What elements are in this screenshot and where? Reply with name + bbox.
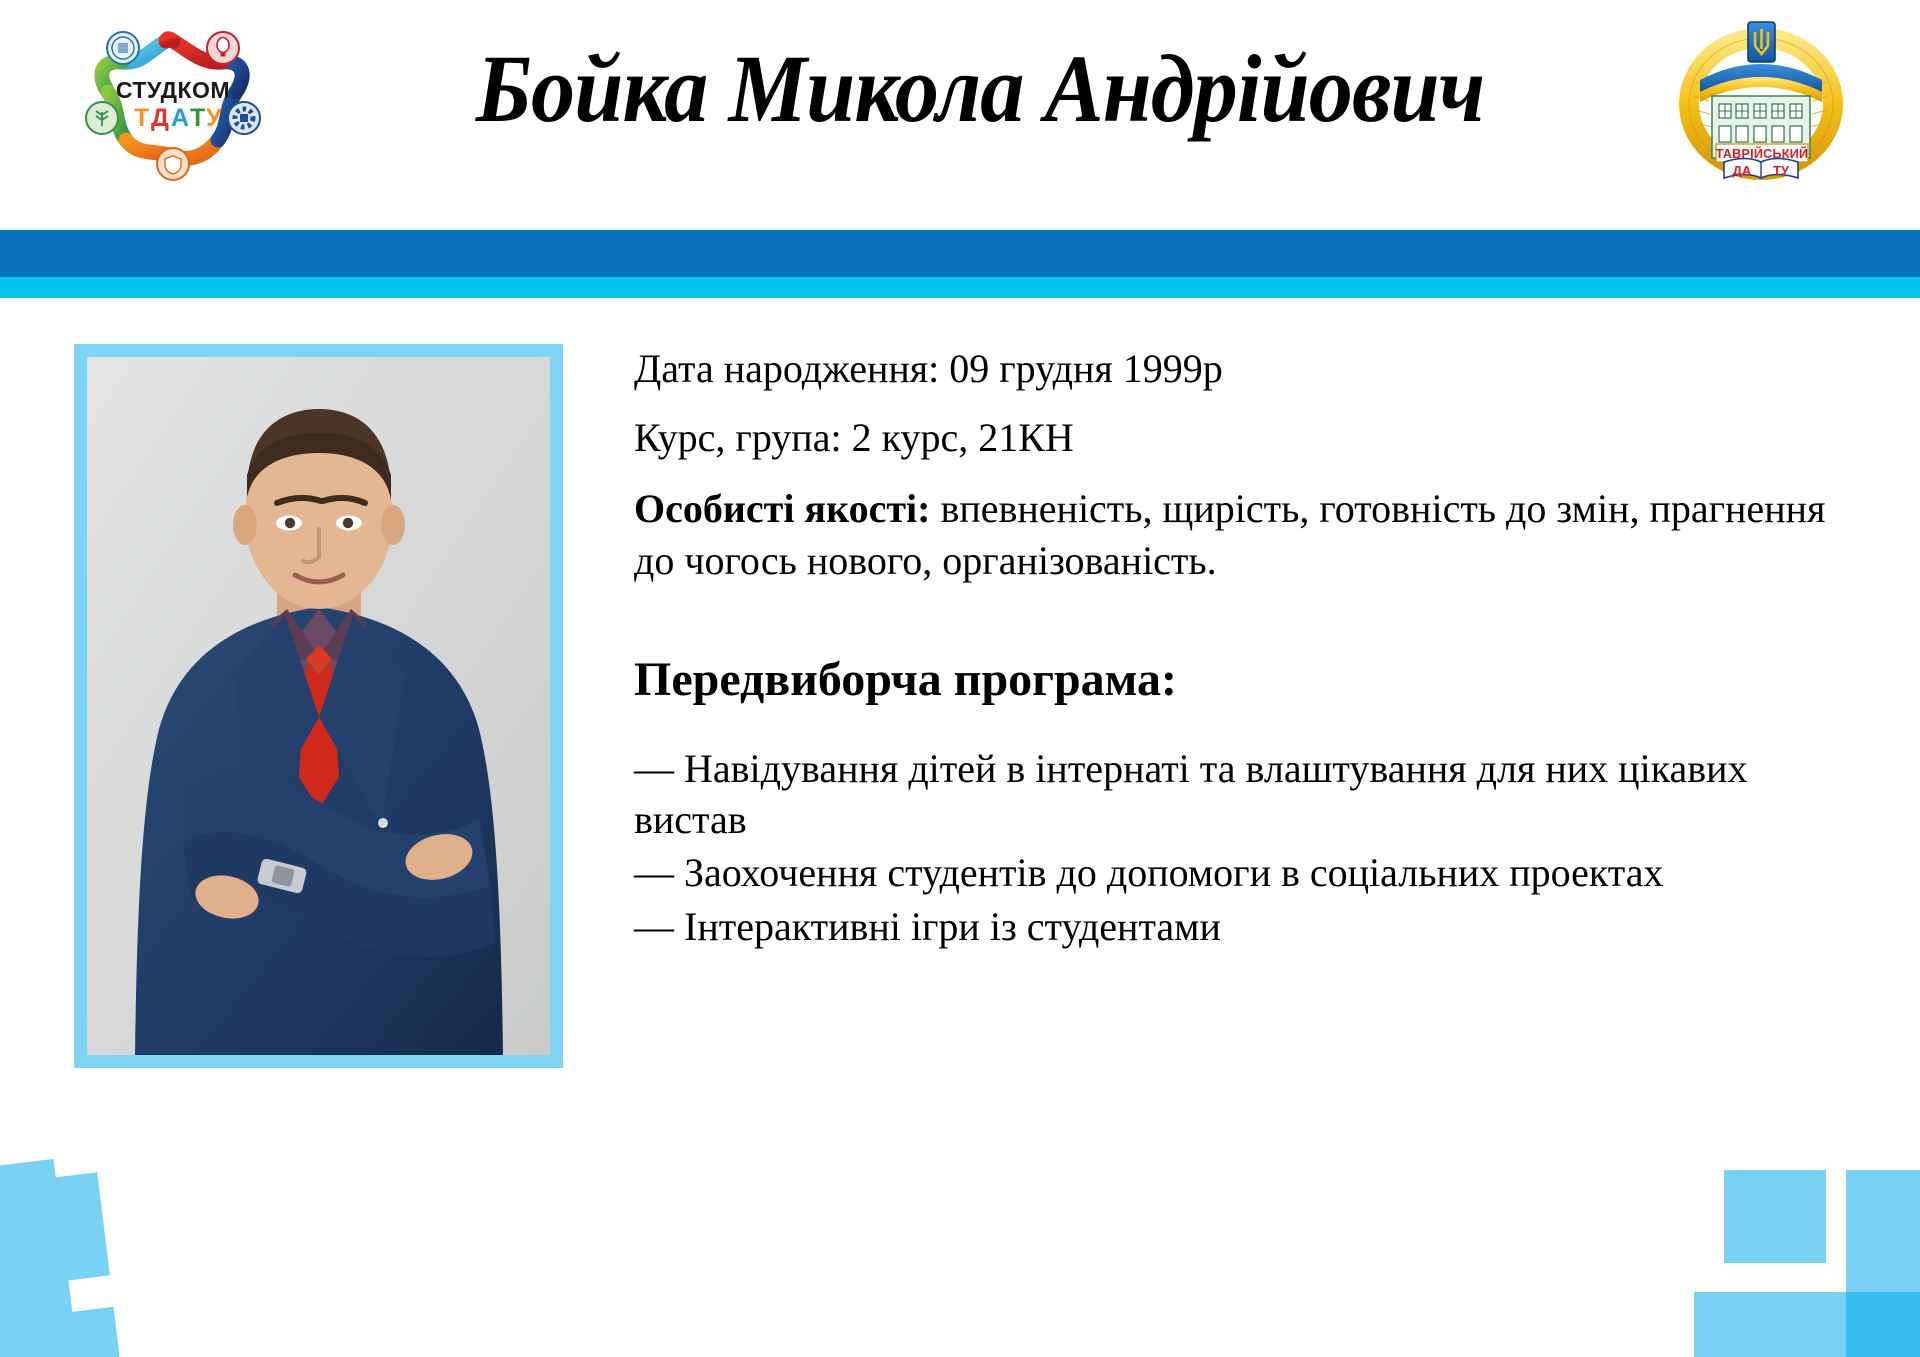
birth-date-line: Дата народження: 09 грудня 1999р	[634, 345, 1864, 392]
personal-qualities-label: Особисті якості:	[634, 486, 930, 531]
svg-text:У: У	[206, 104, 222, 132]
divider-bar-dark-blue	[0, 230, 1920, 277]
studkom-word: СТУДКОМ	[116, 77, 230, 103]
decor-square	[1724, 1170, 1826, 1263]
program-heading: Передвиборча програма:	[634, 651, 1864, 709]
candidate-photo-frame	[74, 344, 563, 1068]
candidate-info: Дата народження: 09 грудня 1999р Курс, г…	[634, 345, 1864, 954]
svg-text:Т: Т	[190, 104, 205, 132]
course-group-line: Курс, група: 2 курс, 21КН	[634, 414, 1864, 461]
svg-text:А: А	[171, 104, 189, 132]
emblem-banner-text: ТАВРІЙСЬКИЙ	[1716, 146, 1809, 161]
divider-bar-cyan	[0, 277, 1920, 298]
slide-root: СТУДКОМ Т Д А Т У Бойка Микола Андрійови…	[0, 0, 1920, 1357]
emblem-book-right: ТУ	[1773, 163, 1790, 178]
tdatu-university-emblem: ТАВРІЙСЬКИЙ ДА ТУ	[1672, 12, 1850, 180]
program-list: — Навідування дітей в інтернаті та влашт…	[634, 743, 1864, 952]
candidate-photo	[87, 357, 550, 1055]
list-item: — Інтерактивні ігри із студентами	[634, 901, 1864, 952]
page-title: Бойка Микола Андрійович	[382, 24, 1578, 154]
decor-square	[0, 1172, 110, 1290]
header: СТУДКОМ Т Д А Т У Бойка Микола Андрійови…	[0, 0, 1920, 230]
studkom-tdatu-logo: СТУДКОМ Т Д А Т У	[78, 16, 268, 186]
tdatu-word: Т Д А Т У	[134, 104, 222, 132]
personal-qualities: Особисті якості: впевненість, щирість, г…	[634, 483, 1864, 587]
decor-square-overlap	[1846, 1292, 1920, 1357]
svg-text:Д: Д	[151, 104, 169, 132]
decoration-bottom-right	[1660, 1120, 1920, 1357]
svg-text:Т: Т	[134, 104, 149, 132]
list-item: — Заохочення студентів до допомоги в соц…	[634, 847, 1864, 898]
decoration-bottom-left	[0, 1135, 260, 1357]
list-item: — Навідування дітей в інтернаті та влашт…	[634, 743, 1864, 845]
emblem-book-left: ДА	[1733, 163, 1752, 178]
